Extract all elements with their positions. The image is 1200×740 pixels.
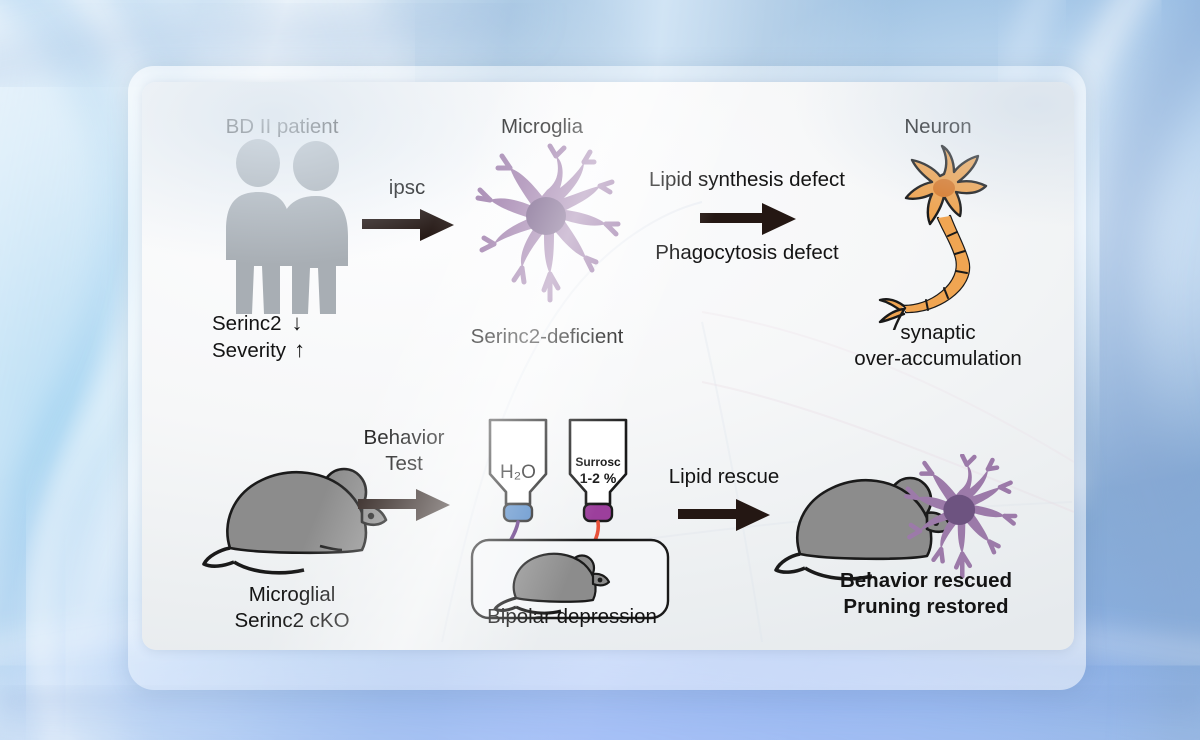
- up-arrow-icon: ↑: [294, 337, 305, 362]
- arrow-label-lipid-rescue: Lipid rescue: [669, 464, 780, 489]
- neuron-caption-line2: over-accumulation: [808, 346, 1068, 371]
- patient-caption-serinc2: Serinc2: [212, 312, 282, 335]
- header-bd-patient: BD II patient: [226, 114, 339, 139]
- arrow-behavior-test-icon: [356, 486, 452, 524]
- bd-patient-icon: [216, 138, 356, 318]
- bottle-water-label: H₂O: [500, 460, 536, 485]
- result-caption-line1: Behavior rescued: [840, 568, 1012, 593]
- arrow-label-behavior: Behavior: [364, 425, 445, 450]
- microglia-cell-icon: [472, 142, 622, 322]
- down-arrow-icon: ↓: [292, 310, 303, 335]
- patient-caption-severity-row: Severity↑: [212, 337, 305, 363]
- neuron-icon: [860, 140, 1020, 330]
- arrow-ipsc-icon: [360, 206, 456, 244]
- patient-caption-severity: Severity: [212, 339, 286, 362]
- arrow-label-lipid-synthesis-defect: Lipid synthesis defect: [649, 167, 845, 192]
- arrow-defect-icon: [698, 200, 798, 238]
- patient-caption-serinc2-row: Serinc2↓: [212, 310, 303, 336]
- graphical-abstract-figure: BD II patient Microglia Neuron Serinc2↓ …: [0, 0, 1200, 740]
- arrow-lipid-rescue-icon: [676, 496, 772, 534]
- mouse-caption-line2: Serinc2 cKO: [234, 608, 349, 633]
- arrow-label-test: Test: [385, 451, 423, 476]
- header-microglia: Microglia: [501, 114, 583, 139]
- mouse-caption-line1: Microglial: [249, 582, 336, 607]
- header-neuron: Neuron: [904, 114, 971, 139]
- two-bottle-apparatus: [464, 412, 684, 632]
- neuron-caption-line1: synaptic: [808, 320, 1068, 345]
- bottle-sucrose-label-line2: 1-2 %: [580, 466, 617, 491]
- microglia-caption: Serinc2-deficient: [471, 324, 624, 349]
- cage-caption: Bipolar depression: [487, 604, 657, 629]
- result-caption-line2: Pruning restored: [843, 594, 1008, 619]
- arrow-label-phagocytosis-defect: Phagocytosis defect: [655, 240, 838, 265]
- content-card: BD II patient Microglia Neuron Serinc2↓ …: [142, 82, 1074, 650]
- arrow-label-ipsc: ipsc: [389, 175, 425, 200]
